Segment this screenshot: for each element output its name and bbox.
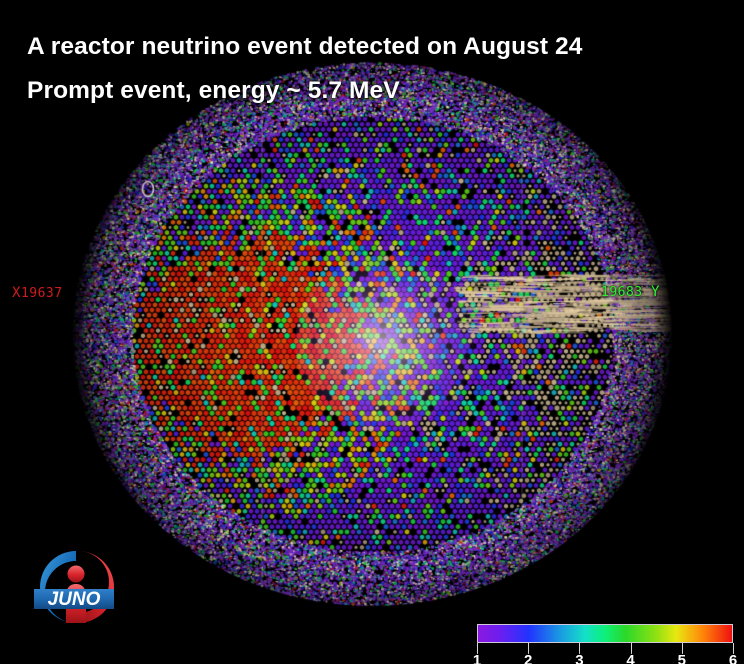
color-scale-tick-label: 5 (678, 653, 686, 664)
logo-text: JUNO (48, 589, 101, 610)
title-line-1: A reactor neutrino event detected on Aug… (27, 25, 583, 69)
logo-banner: JUNO (34, 589, 114, 610)
title-line-2: Prompt event, energy ~ 5.7 MeV (27, 69, 583, 113)
axis-label-x: X19637 (12, 285, 63, 301)
color-scale-tick-label: 2 (524, 653, 532, 664)
juno-logo: JUNO (20, 543, 132, 631)
color-scale-legend[interactable]: 123456 (475, 620, 737, 664)
title-block: A reactor neutrino event detected on Aug… (27, 25, 583, 113)
color-scale-tick-label: 4 (626, 653, 634, 664)
color-scale-gradient (478, 625, 732, 642)
axis-x-letter: X (12, 285, 21, 301)
color-scale-tick-label: 3 (575, 653, 583, 664)
axis-label-y: 19683 Y (601, 284, 660, 300)
color-scale-tick-label: 6 (729, 653, 737, 664)
axis-y-value: 19683 (601, 285, 643, 300)
color-scale-tick-label: 1 (473, 653, 481, 664)
axis-y-letter: Y (651, 284, 660, 300)
color-scale-bar (477, 624, 733, 643)
event-display-screen: X19637 19683 Y A reactor neutrino event … (0, 0, 744, 664)
axis-x-value: 19637 (21, 286, 63, 301)
